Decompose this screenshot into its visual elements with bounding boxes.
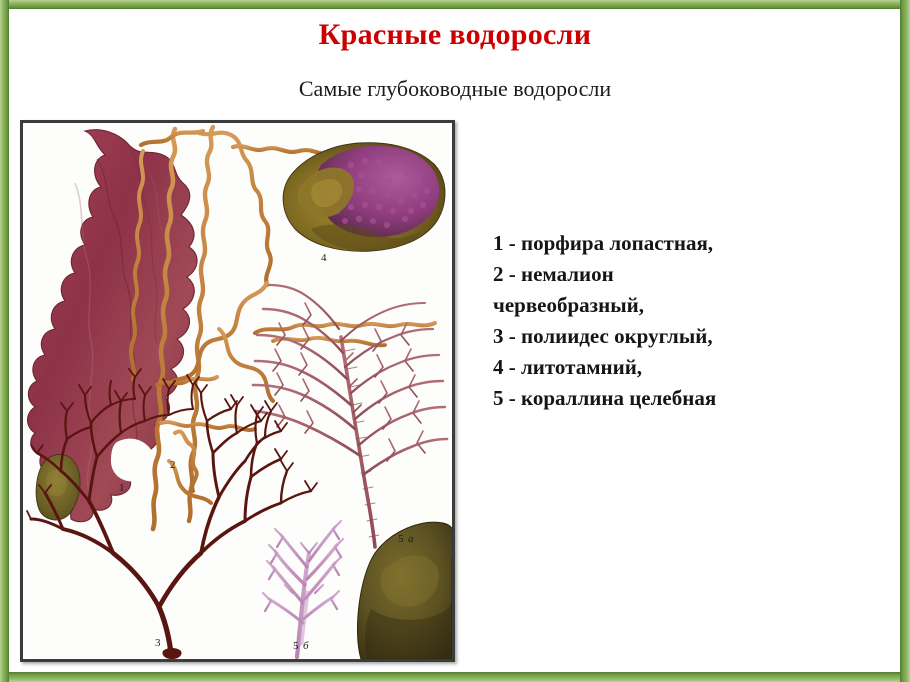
legend-item-4: 4 - литотамний, xyxy=(493,352,883,383)
algae-illustration-panel: 1 2 3 4 5 а 5 б xyxy=(20,120,455,662)
figure-label-5a-number: 5 xyxy=(398,533,404,545)
slide-frame-right xyxy=(900,0,910,682)
figure-label-2: 2 xyxy=(170,459,176,471)
legend-item-2: 2 - немалион xyxy=(493,259,883,290)
figure-label-5b-number: 5 xyxy=(293,640,299,652)
legend-item-1: 1 - порфира лопастная, xyxy=(493,228,883,259)
slide-frame-bottom xyxy=(0,672,910,682)
page-title: Красные водоросли xyxy=(0,18,910,52)
page-subtitle: Самые глубоководные водоросли xyxy=(0,76,910,102)
figure-label-5b-letter: б xyxy=(303,640,309,652)
figure-label-5a-letter: а xyxy=(408,533,414,545)
figure-label-4: 4 xyxy=(321,252,327,264)
slide-frame-top xyxy=(0,0,910,9)
figure-label-1: 1 xyxy=(119,482,125,494)
algae-illustration-svg: 1 2 3 4 5 а 5 б xyxy=(23,123,452,659)
slide-canvas: Красные водоросли Самые глубоководные во… xyxy=(0,0,910,682)
figure-label-3: 3 xyxy=(155,637,161,649)
legend-item-2-continued: червеобразный, xyxy=(493,290,883,321)
species-legend: 1 - порфира лопастная, 2 - немалион черв… xyxy=(493,228,883,414)
legend-item-5: 5 - кораллина целебная xyxy=(493,383,883,414)
legend-item-3: 3 - полиидес округлый, xyxy=(493,321,883,352)
slide-frame-left xyxy=(0,0,9,682)
